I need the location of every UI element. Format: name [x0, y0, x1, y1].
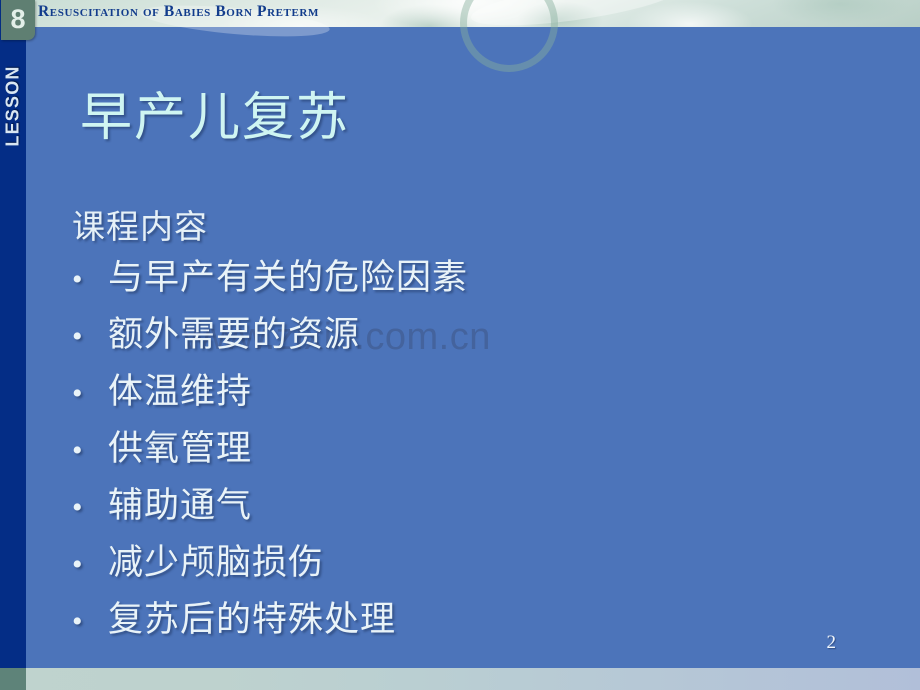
slide-canvas: Resuscitation of Babies Born Preterm LES…	[0, 0, 920, 690]
list-item: • 复苏后的特殊处理	[72, 591, 468, 648]
list-item-label: 供氧管理	[108, 420, 252, 477]
footer-accent-block	[0, 668, 26, 690]
list-item-label: 体温维持	[108, 363, 252, 420]
section-subhead: 课程内容	[72, 210, 208, 246]
list-item-label: 与早产有关的危险因素	[108, 249, 468, 306]
header-title: Resuscitation of Babies Born Preterm	[38, 3, 319, 21]
list-item-label: 复苏后的特殊处理	[108, 591, 396, 648]
list-item: • 减少颅脑损伤	[72, 534, 468, 591]
list-item-label: 额外需要的资源	[108, 306, 360, 363]
list-item-label: 辅助通气	[108, 477, 252, 534]
list-item: • 辅助通气	[72, 477, 468, 534]
lesson-label-text: LESSON	[3, 65, 24, 146]
page-number: 2	[827, 632, 837, 654]
bullet-marker-icon: •	[72, 479, 108, 536]
bullet-marker-icon: •	[72, 536, 108, 593]
list-item-label: 减少颅脑损伤	[108, 534, 324, 591]
list-item: • 供氧管理	[72, 420, 468, 477]
bullet-marker-icon: •	[72, 365, 108, 422]
bullet-marker-icon: •	[72, 251, 108, 308]
slide-body: 早产儿复苏 课程内容 • 与早产有关的危险因素 • 额外需要的资源 • 体温维持…	[26, 27, 920, 668]
lesson-number-text: 8	[1, 6, 35, 33]
list-item: • 体温维持	[72, 363, 468, 420]
list-item: • 额外需要的资源	[72, 306, 468, 363]
list-item: • 与早产有关的危险因素	[72, 249, 468, 306]
agenda-bullet-list: • 与早产有关的危险因素 • 额外需要的资源 • 体温维持 • 供氧管理 • 辅…	[72, 249, 468, 648]
bullet-marker-icon: •	[72, 422, 108, 479]
page-title: 早产儿复苏	[80, 89, 350, 149]
footer-bar	[0, 668, 920, 690]
bullet-marker-icon: •	[72, 308, 108, 365]
lesson-number-badge: 8	[1, 0, 35, 40]
lesson-label-vertical: LESSON	[0, 44, 26, 168]
bullet-marker-icon: •	[72, 593, 108, 650]
